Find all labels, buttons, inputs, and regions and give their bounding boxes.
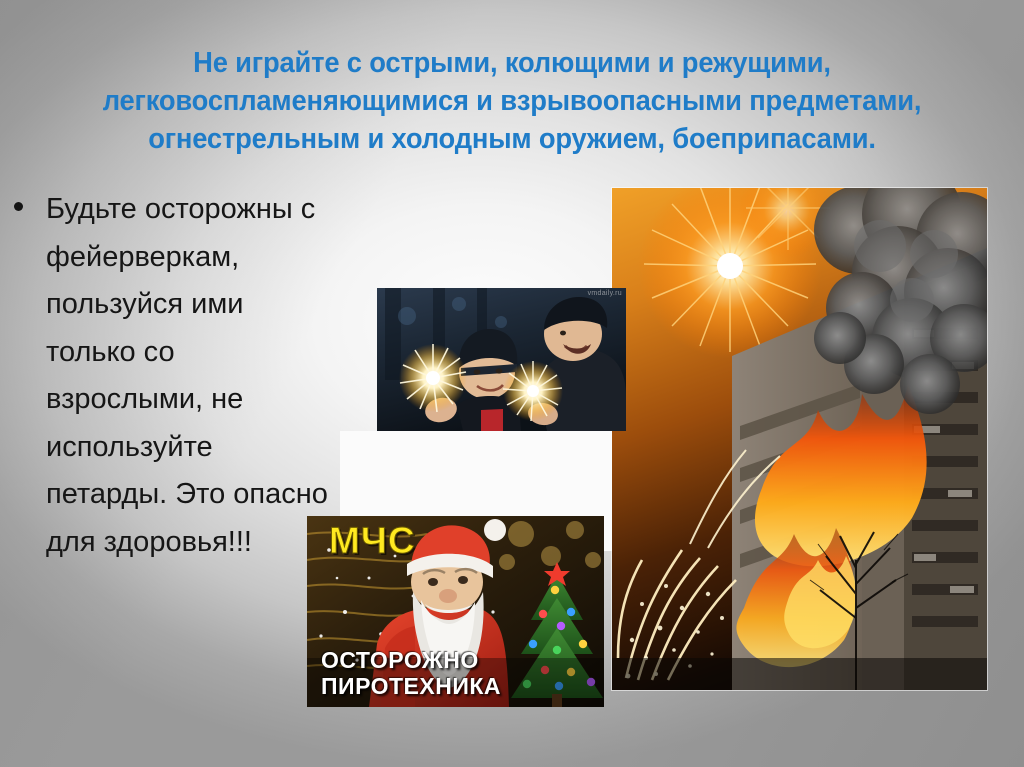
body-bullet-list: Будьте осторожны с фейерверкам, пользуйс…: [8, 186, 338, 566]
page-title: Не играйте с острыми, колющими и режущим…: [30, 44, 994, 158]
mchs-caption-line-2: ПИРОТЕХНИКА: [321, 673, 594, 699]
mchs-caption-line-1: ОСТОРОЖНО: [321, 647, 594, 673]
slide-canvas: Не играйте с острыми, колющими и режущим…: [0, 0, 1024, 767]
mchs-headline: МЧС: [329, 522, 416, 559]
title-line-2: легковоспламеняющимися и взрывоопасными …: [30, 82, 994, 120]
bullet-item-text: Будьте осторожны с фейерверкам, пользуйс…: [8, 186, 338, 566]
mchs-caption: ОСТОРОЖНО ПИРОТЕХНИКА: [321, 647, 594, 699]
burning-building-photo: [612, 188, 987, 690]
title-line-1: Не играйте с острыми, колющими и режущим…: [30, 44, 994, 82]
mchs-poster: МЧС ОСТОРОЖНО ПИРОТЕХНИКА: [307, 516, 604, 707]
title-line-3: огнестрельным и холодным оружием, боепри…: [30, 120, 994, 158]
sparklers-photo: vmdaily.ru: [377, 288, 626, 431]
bullet-point-icon: [14, 202, 23, 211]
